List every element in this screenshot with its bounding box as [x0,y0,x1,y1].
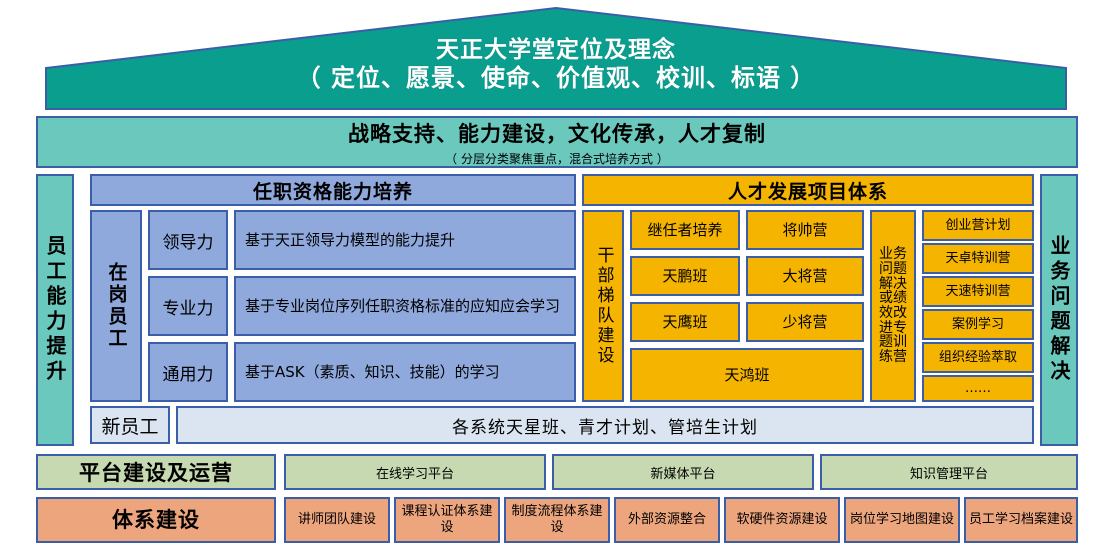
onjob-employee-group: 在岗员工 [90,210,142,402]
system-construction-row: 体系建设 讲师团队建设 课程认证体系建设 制度流程体系建设 外部资源整合 软硬件… [36,497,1078,543]
platform-row-header: 平台建设及运营 [36,454,276,490]
program-startup-camp-plan[interactable]: 创业营计划 [922,210,1034,241]
program-tianying-class[interactable]: 天鹰班 [630,302,740,342]
roof-shape: 天正大学堂定位及理念 （ 定位、愿景、使命、价值观、校训、标语 ） [44,6,1068,111]
program-tiansu-training-camp[interactable]: 天速特训营 [922,276,1034,307]
program-major-general-camp[interactable]: 大将营 [746,256,864,296]
program-org-experience-extraction[interactable]: 组织经验萃取 [922,342,1034,373]
system-employee-learning-archive[interactable]: 员工学习档案建设 [964,497,1078,543]
new-employee-label[interactable]: 新员工 [90,406,170,444]
business-problem-camp-label: 业务问题解决或绩效改进专题训练营 [876,247,910,365]
talent-development-title: 人才发展项目体系 [582,174,1034,206]
capability-general-desc: 基于ASK（素质、知识、技能）的学习 [234,342,576,402]
program-general-marshal-camp[interactable]: 将帅营 [746,210,864,250]
qualification-cluster: 任职资格能力培养 在岗员工 领导力 基于天正领导力模型的能力提升 专业力 基于专… [90,174,576,402]
system-row-header: 体系建设 [36,497,276,543]
onjob-employee-label: 在岗员工 [107,262,126,350]
left-pillar-employee-capability: 员工能力提升 [36,174,74,446]
platform-new-media[interactable]: 新媒体平台 [552,454,814,490]
program-minor-general-camp[interactable]: 少将营 [746,302,864,342]
qualification-title: 任职资格能力培养 [90,174,576,206]
system-learning-map[interactable]: 岗位学习地图建设 [844,497,960,543]
program-case-study[interactable]: 案例学习 [922,309,1034,340]
platform-knowledge-management[interactable]: 知识管理平台 [820,454,1078,490]
main-body: 员工能力提升 业务问题解决 任职资格能力培养 在岗员工 领导力 基于天正领导力模… [36,174,1078,446]
program-successor-cultivation[interactable]: 继任者培养 [630,210,740,250]
system-trainer-team[interactable]: 讲师团队建设 [284,497,390,543]
program-tianzhuo-training-camp[interactable]: 天卓特训营 [922,243,1034,274]
system-process-institution[interactable]: 制度流程体系建设 [504,497,610,543]
left-pillar-label: 员工能力提升 [45,235,65,385]
business-problem-camp-group: 业务问题解决或绩效改进专题训练营 [870,210,916,402]
system-hardware-software-resource[interactable]: 软硬件资源建设 [724,497,840,543]
system-external-resource[interactable]: 外部资源整合 [614,497,720,543]
talent-development-cluster: 人才发展项目体系 干部梯队建设 继任者培养 天鹏班 天鹰班 将帅营 大将营 少将… [582,174,1034,402]
right-pillar-business-problem: 业务问题解决 [1040,174,1078,446]
program-tianhong-class[interactable]: 天鸿班 [630,348,864,402]
diagram-canvas: 天正大学堂定位及理念 （ 定位、愿景、使命、价值观、校训、标语 ） 战略支持、能… [0,0,1114,551]
right-pillar-label: 业务问题解决 [1049,235,1069,385]
platform-online-learning[interactable]: 在线学习平台 [284,454,546,490]
cadre-echelon-label: 干部梯队建设 [595,246,612,366]
program-more-ellipsis[interactable]: …… [922,375,1034,402]
roof-title-line2: （ 定位、愿景、使命、价值观、校训、标语 ） [44,64,1068,93]
strategy-band-line2: （ 分层分类聚焦重点，混合式培养方式 ） [445,150,669,167]
capability-general[interactable]: 通用力 [148,342,228,402]
platform-row: 平台建设及运营 在线学习平台 新媒体平台 知识管理平台 [36,454,1078,490]
roof-title-line1: 天正大学堂定位及理念 [44,36,1068,64]
strategy-band: 战略支持、能力建设，文化传承，人才复制 （ 分层分类聚焦重点，混合式培养方式 ） [36,116,1078,168]
capability-professional-desc: 基于专业岗位序列任职资格标准的应知应会学习 [234,276,576,336]
capability-professional[interactable]: 专业力 [148,276,228,336]
roof-text-block: 天正大学堂定位及理念 （ 定位、愿景、使命、价值观、校训、标语 ） [44,36,1068,93]
capability-leadership[interactable]: 领导力 [148,210,228,270]
new-employee-programs: 各系统天星班、青才计划、管培生计划 [176,406,1034,444]
cadre-echelon-group: 干部梯队建设 [582,210,624,402]
capability-leadership-desc: 基于天正领导力模型的能力提升 [234,210,576,270]
strategy-band-line1: 战略支持、能力建设，文化传承，人才复制 [348,118,766,148]
program-tianpeng-class[interactable]: 天鹏班 [630,256,740,296]
system-course-certification[interactable]: 课程认证体系建设 [394,497,500,543]
